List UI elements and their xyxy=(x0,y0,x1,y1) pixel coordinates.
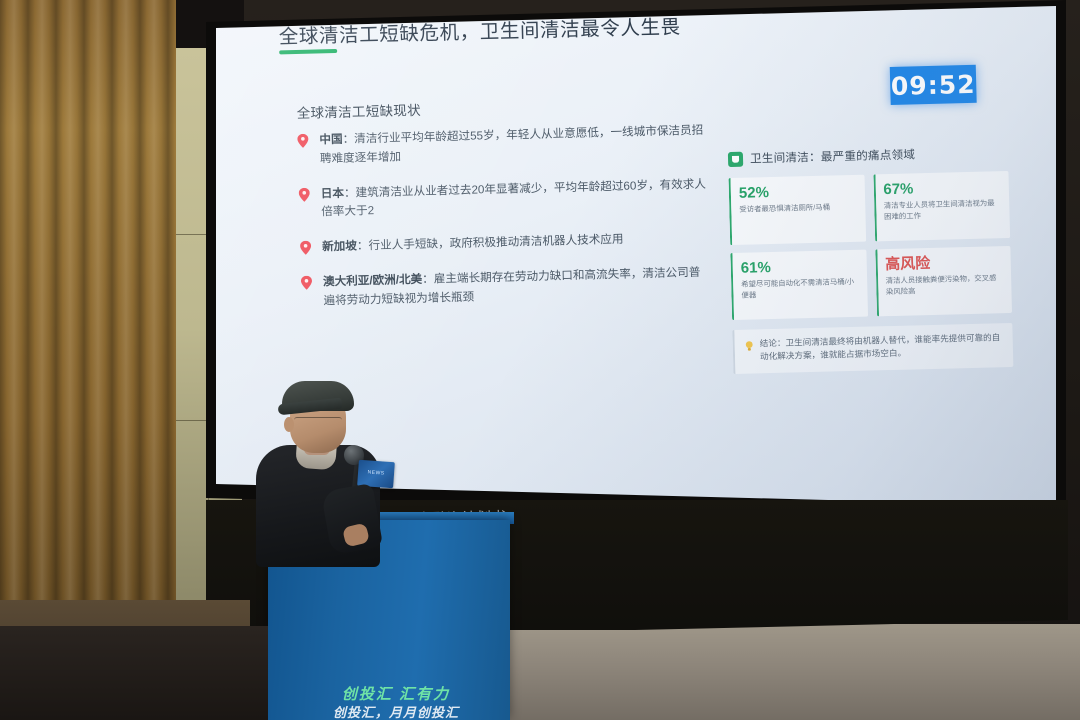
bullet-region: 日本 xyxy=(321,186,345,200)
bullet-text: 建筑清洁业从业者过去20年显著减少，平均年龄超过60岁，有效求人倍率大于2 xyxy=(321,177,706,219)
speaker-person: NEWS xyxy=(248,375,398,560)
conclusion-text: 结论：卫生间清洁最终将由机器人替代，谁能率先提供可靠的自动化解决方案，谁就能占据… xyxy=(760,331,1005,364)
stat-card-risk: 高风险 清洁人员接触粪便污染物，交叉感染风险高 xyxy=(875,246,1012,316)
stat-description: 受访者最恐惧清洁厕所/马桶 xyxy=(739,202,857,215)
speaker-ear xyxy=(284,417,294,432)
bullet-sep: ： xyxy=(357,239,369,252)
bullet-text: 清洁行业平均年龄超过55岁，年轻人从业意愿低，一线城市保洁员招聘难度逐年增加 xyxy=(320,124,704,165)
stat-description: 清洁人员接触粪便污染物，交叉感染风险高 xyxy=(886,273,1004,297)
toilet-panel-icon xyxy=(728,151,743,166)
stat-card-grid: 52% 受访者最恐惧清洁厕所/马桶 67% 清洁专业人员将卫生间清洁视为最困难的… xyxy=(729,171,1013,320)
bullet-text: 行业人手短缺，政府积极推动清洁机器人技术应用 xyxy=(368,233,623,252)
foreground-dark-block xyxy=(0,626,268,720)
lightbulb-icon xyxy=(745,339,754,357)
stat-card: 67% 清洁专业人员将卫生间清洁视为最困难的工作 xyxy=(873,171,1010,241)
list-item: 新加坡：行业人手短缺，政府积极推动清洁机器人技术应用 xyxy=(300,229,710,258)
slide-right-column: 卫生间清洁：最严重的痛点领域 52% 受访者最恐惧清洁厕所/马桶 67% 清洁专… xyxy=(728,144,1014,374)
stat-description: 清洁专业人员将卫生间清洁视为最困难的工作 xyxy=(884,198,1002,222)
bullet-region: 中国 xyxy=(319,133,343,147)
left-section-heading: 全球清洁工短缺现状 xyxy=(296,92,706,122)
map-pin-icon xyxy=(300,241,311,255)
stat-value: 52% xyxy=(739,182,857,202)
conclusion-box: 结论：卫生间清洁最终将由机器人替代，谁能率先提供可靠的自动化解决方案，谁就能占据… xyxy=(732,323,1013,374)
bullet-sep: ： xyxy=(422,272,434,285)
podium-slogan-line1: 创投汇 汇有力 xyxy=(296,686,496,705)
map-pin-icon xyxy=(301,276,312,290)
countdown-clock: 09:52 xyxy=(890,65,977,105)
slide-left-column: 全球清洁工短缺现状 中国：清洁行业平均年龄超过55岁，年轻人从业意愿低，一线城市… xyxy=(296,92,712,328)
bullet-sep: ： xyxy=(342,133,354,146)
bullet-region: 澳大利亚/欧洲/北美 xyxy=(323,273,423,289)
podium-slogan-line2: 创投汇，月月创投汇 xyxy=(296,705,496,720)
list-item: 澳大利亚/欧洲/北美：雇主端长期存在劳动力缺口和高流失率，清洁公司普遍将劳动力短… xyxy=(301,263,712,311)
map-pin-icon xyxy=(299,187,310,201)
stat-description: 希望尽可能自动化不需清洁马桶/小便器 xyxy=(741,277,859,301)
microphone-flag-label: NEWS xyxy=(358,469,394,477)
stage-scene: 全球清洁工短缺危机，卫生间清洁最令人生畏 全球清洁工短缺现状 中国：清洁行业平均… xyxy=(0,0,1080,720)
bullet-sep: ： xyxy=(344,186,356,199)
speaker-glasses xyxy=(294,417,342,426)
stat-card: 61% 希望尽可能自动化不需清洁马桶/小便器 xyxy=(730,250,867,320)
title-underline-rule xyxy=(279,49,337,54)
stat-value: 高风险 xyxy=(885,253,1003,273)
stat-value: 67% xyxy=(883,178,1001,198)
right-section-heading: 卫生间清洁：最严重的痛点领域 xyxy=(750,146,915,166)
stat-card: 52% 受访者最恐惧清洁厕所/马桶 xyxy=(729,175,866,245)
right-section-header: 卫生间清洁：最严重的痛点领域 xyxy=(728,144,1008,167)
bullet-region: 新加坡 xyxy=(322,240,357,254)
list-item: 中国：清洁行业平均年龄超过55岁，年轻人从业意愿低，一线城市保洁员招聘难度逐年增… xyxy=(297,122,708,170)
podium-slogan: 创投汇 汇有力 创投汇，月月创投汇 xyxy=(296,686,496,720)
map-pin-icon xyxy=(297,134,308,148)
list-item: 日本：建筑清洁业从业者过去20年显著减少，平均年龄超过60岁，有效求人倍率大于2 xyxy=(299,175,710,223)
stat-value: 61% xyxy=(741,257,859,277)
